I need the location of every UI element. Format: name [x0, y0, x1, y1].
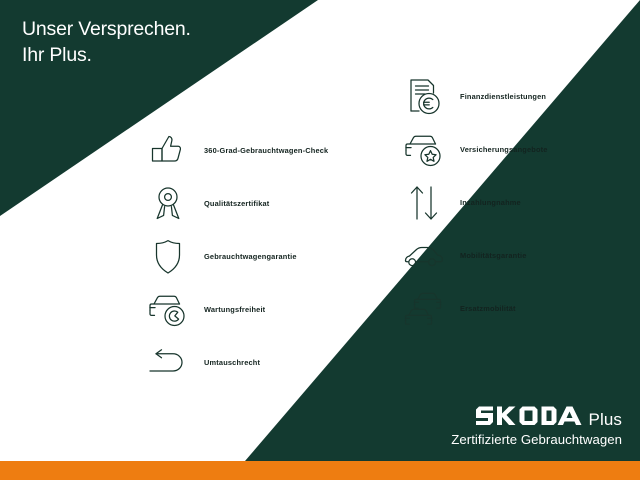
feature-item: Gebrauchtwagengarantie	[142, 232, 392, 282]
feature-label: Gebrauchtwagengarantie	[204, 252, 297, 262]
brand-logo-row: Plus	[451, 405, 622, 430]
headline-line-1: Unser Versprechen.	[22, 16, 191, 42]
car-side-icon	[398, 233, 450, 279]
slide-canvas: Unser Versprechen. Ihr Plus. 360-Grad-Ge…	[0, 0, 640, 480]
feature-item: Ersatzmobilität	[398, 284, 640, 334]
feature-label: Ersatzmobilität	[460, 304, 516, 314]
page-title: Unser Versprechen. Ihr Plus.	[22, 16, 191, 68]
feature-item: Mobilitätsgarantie	[398, 231, 640, 281]
thumbs-up-icon	[142, 128, 194, 174]
feature-label: Finanzdienstleistungen	[460, 92, 546, 102]
car-wrench-icon	[142, 287, 194, 333]
feature-label: Versicherungsangebote	[460, 145, 548, 155]
feature-item: Inzahlungnahme	[398, 178, 640, 228]
headline-line-2: Ihr Plus.	[22, 42, 191, 68]
feature-label: Wartungsfreiheit	[204, 305, 265, 315]
feature-item: Qualitätszertifikat	[142, 179, 392, 229]
skoda-wordmark-icon	[475, 405, 583, 430]
orange-bar-shape	[0, 461, 640, 480]
arrows-up-down-icon	[398, 180, 450, 226]
two-cars-icon	[398, 286, 450, 332]
feature-item: Umtauschrecht	[142, 338, 392, 388]
feature-label: Umtauschrecht	[204, 358, 260, 368]
feature-list-right: Finanzdienstleistungen Versicherungsange…	[398, 72, 640, 337]
feature-item: Finanzdienstleistungen	[398, 72, 640, 122]
award-rosette-icon	[142, 181, 194, 227]
brand-tagline: Zertifizierte Gebrauchtwagen	[451, 432, 622, 448]
return-arrow-icon	[142, 340, 194, 386]
shield-icon	[142, 234, 194, 280]
document-euro-icon	[398, 74, 450, 120]
feature-list-left: 360-Grad-Gebrauchtwagen-Check Qualitätsz…	[142, 126, 392, 391]
feature-item: Versicherungsangebote	[398, 125, 640, 175]
feature-label: 360-Grad-Gebrauchtwagen-Check	[204, 146, 328, 156]
feature-label: Inzahlungnahme	[460, 198, 521, 208]
feature-label: Qualitätszertifikat	[204, 199, 269, 209]
feature-item: Wartungsfreiheit	[142, 285, 392, 335]
brand-logo-lockup: Plus Zertifizierte Gebrauchtwagen	[451, 405, 622, 448]
car-star-icon	[398, 127, 450, 173]
feature-item: 360-Grad-Gebrauchtwagen-Check	[142, 126, 392, 176]
brand-plus-label: Plus	[589, 411, 622, 428]
feature-label: Mobilitätsgarantie	[460, 251, 526, 261]
